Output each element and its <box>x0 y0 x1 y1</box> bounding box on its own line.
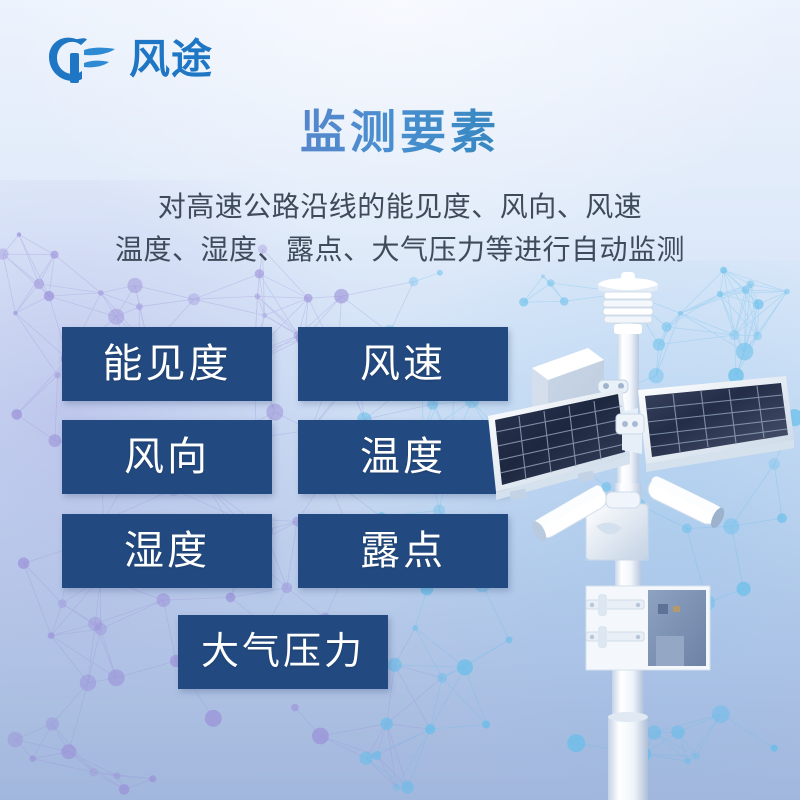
feature-tag-dew-point[interactable]: 露点 <box>298 514 508 588</box>
feature-tag-label: 湿度 <box>124 531 210 571</box>
feature-tag-humidity[interactable]: 湿度 <box>62 514 272 588</box>
feature-tag-wind-speed[interactable]: 风速 <box>298 327 508 401</box>
feature-tag-label: 大气压力 <box>201 633 365 671</box>
feature-tag-temperature[interactable]: 温度 <box>298 420 508 494</box>
feature-tag-visibility[interactable]: 能见度 <box>62 327 272 401</box>
feature-tag-label: 能见度 <box>103 344 232 384</box>
feature-tag-air-pressure[interactable]: 大气压力 <box>178 615 388 689</box>
feature-tag-label: 露点 <box>360 531 446 571</box>
feature-tag-label: 温度 <box>360 437 446 477</box>
feature-tag-list: 能见度 风速 风向 温度 湿度 露点 大气压力 <box>0 0 800 800</box>
feature-tag-wind-direction[interactable]: 风向 <box>62 420 272 494</box>
poster-root: 风途 监测要素 对高速公路沿线的能见度、风向、风速 温度、湿度、露点、大气压力等… <box>0 0 800 800</box>
feature-tag-label: 风向 <box>124 437 210 477</box>
feature-tag-label: 风速 <box>360 344 446 384</box>
